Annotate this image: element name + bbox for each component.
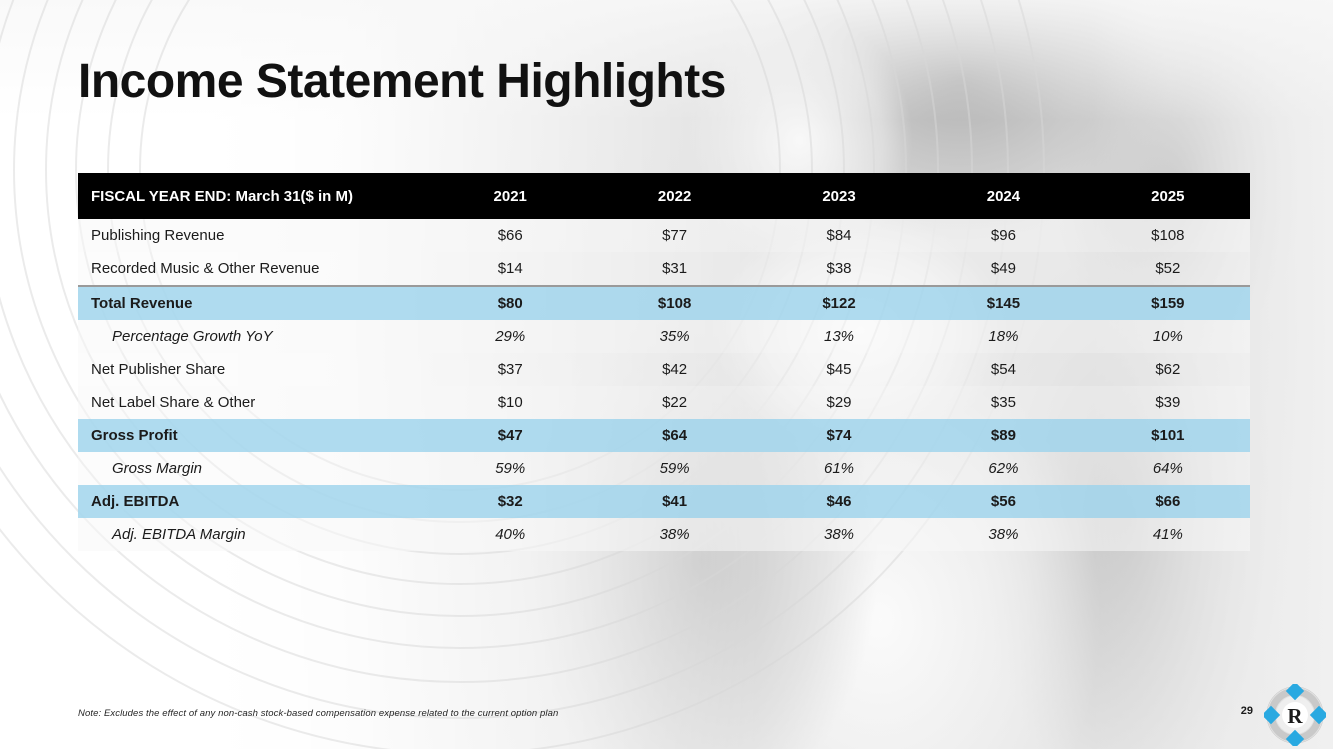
row-cell: 18% — [921, 328, 1085, 345]
row-cell: 35% — [592, 328, 756, 345]
row-cell: $37 — [428, 361, 592, 378]
company-logo: R — [1264, 684, 1326, 746]
row-cell: $45 — [757, 361, 921, 378]
logo-letter: R — [1287, 704, 1303, 728]
row-cell: $22 — [592, 394, 756, 411]
row-cell: 61% — [757, 460, 921, 477]
row-cell: $49 — [921, 260, 1085, 277]
row-cell: $66 — [428, 227, 592, 244]
row-label: Recorded Music & Other Revenue — [78, 260, 428, 277]
row-cell: 10% — [1086, 328, 1250, 345]
row-cell: 64% — [1086, 460, 1250, 477]
row-label: Publishing Revenue — [78, 227, 428, 244]
row-cell: 40% — [428, 526, 592, 543]
row-cell: $108 — [1086, 227, 1250, 244]
row-cell: 38% — [757, 526, 921, 543]
row-label: Gross Profit — [78, 427, 428, 444]
row-cell: $54 — [921, 361, 1085, 378]
table-row-gross-profit: Gross Profit $47 $64 $74 $89 $101 — [78, 419, 1250, 452]
table-row: Net Label Share & Other $10 $22 $29 $35 … — [78, 386, 1250, 419]
row-cell: 59% — [592, 460, 756, 477]
row-label: Net Publisher Share — [78, 361, 428, 378]
row-cell: $84 — [757, 227, 921, 244]
row-cell: $64 — [592, 427, 756, 444]
row-cell: $96 — [921, 227, 1085, 244]
row-cell: 13% — [757, 328, 921, 345]
row-cell: $31 — [592, 260, 756, 277]
column-header-2022: 2022 — [592, 188, 756, 205]
row-cell: $56 — [921, 493, 1085, 510]
row-cell: 59% — [428, 460, 592, 477]
row-cell: $89 — [921, 427, 1085, 444]
table-header-row: FISCAL YEAR END: March 31($ in M) 2021 2… — [78, 173, 1250, 219]
table-row: Gross Margin 59% 59% 61% 62% 64% — [78, 452, 1250, 485]
row-cell: $29 — [757, 394, 921, 411]
column-header-2023: 2023 — [757, 188, 921, 205]
row-cell: $77 — [592, 227, 756, 244]
row-label: Total Revenue — [78, 295, 428, 312]
row-label: Net Label Share & Other — [78, 394, 428, 411]
row-cell: $108 — [592, 295, 756, 312]
table-row: Net Publisher Share $37 $42 $45 $54 $62 — [78, 353, 1250, 386]
page-title: Income Statement Highlights — [78, 56, 726, 109]
row-cell: $145 — [921, 295, 1085, 312]
column-header-2025: 2025 — [1086, 188, 1250, 205]
row-cell: $47 — [428, 427, 592, 444]
row-label: Gross Margin — [78, 460, 428, 477]
row-cell: $42 — [592, 361, 756, 378]
row-cell: 29% — [428, 328, 592, 345]
row-cell: 38% — [592, 526, 756, 543]
row-label: Adj. EBITDA — [78, 493, 428, 510]
row-cell: 38% — [921, 526, 1085, 543]
table-row: Adj. EBITDA Margin 40% 38% 38% 38% 41% — [78, 518, 1250, 551]
row-cell: $10 — [428, 394, 592, 411]
column-header-2021: 2021 — [428, 188, 592, 205]
row-cell: $80 — [428, 295, 592, 312]
row-cell: $41 — [592, 493, 756, 510]
row-cell: 41% — [1086, 526, 1250, 543]
income-statement-table: FISCAL YEAR END: March 31($ in M) 2021 2… — [78, 173, 1250, 551]
table-row: Percentage Growth YoY 29% 35% 13% 18% 10… — [78, 320, 1250, 353]
row-cell: $32 — [428, 493, 592, 510]
row-cell: 62% — [921, 460, 1085, 477]
row-label: Percentage Growth YoY — [78, 328, 428, 345]
row-cell: $52 — [1086, 260, 1250, 277]
row-cell: $74 — [757, 427, 921, 444]
footnote: Note: Excludes the effect of any non-cas… — [78, 708, 558, 719]
row-cell: $122 — [757, 295, 921, 312]
row-cell: $159 — [1086, 295, 1250, 312]
row-cell: $14 — [428, 260, 592, 277]
row-cell: $38 — [757, 260, 921, 277]
row-cell: $46 — [757, 493, 921, 510]
page-number: 29 — [1241, 705, 1253, 717]
row-label: Adj. EBITDA Margin — [78, 526, 428, 543]
table-row-adj-ebitda: Adj. EBITDA $32 $41 $46 $56 $66 — [78, 485, 1250, 518]
table-row: Publishing Revenue $66 $77 $84 $96 $108 — [78, 219, 1250, 252]
column-header-2024: 2024 — [921, 188, 1085, 205]
row-cell: $35 — [921, 394, 1085, 411]
row-cell: $66 — [1086, 493, 1250, 510]
row-cell: $62 — [1086, 361, 1250, 378]
table-row-total-revenue: Total Revenue $80 $108 $122 $145 $159 — [78, 285, 1250, 320]
row-cell: $101 — [1086, 427, 1250, 444]
table-row: Recorded Music & Other Revenue $14 $31 $… — [78, 252, 1250, 285]
slide-canvas: Income Statement Highlights FISCAL YEAR … — [0, 0, 1333, 749]
row-cell: $39 — [1086, 394, 1250, 411]
table-header-label: FISCAL YEAR END: March 31($ in M) — [78, 188, 428, 205]
